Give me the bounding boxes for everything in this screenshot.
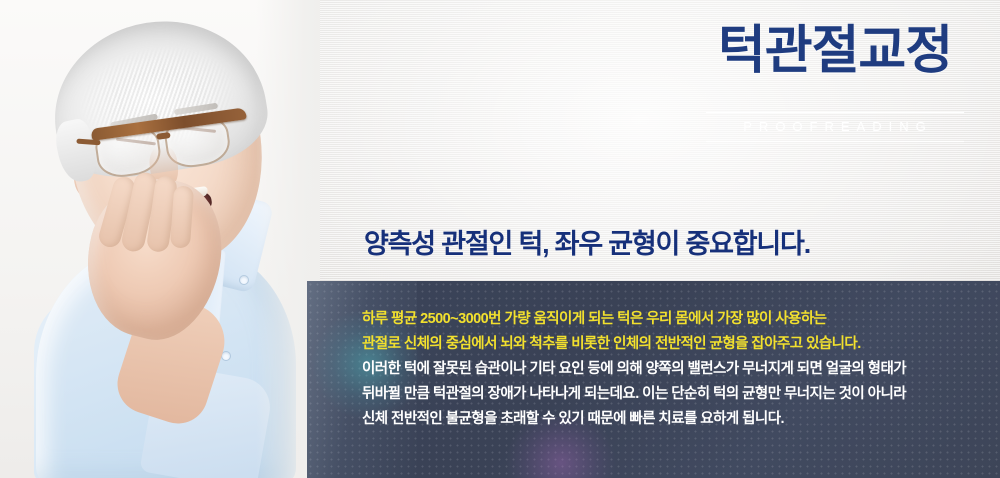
lead-statement: 양측성 관절인 턱, 좌우 균형이 중요합니다. xyxy=(364,222,810,261)
english-subtitle-group: PROOFREADING xyxy=(690,112,980,142)
promo-banner: 턱관절교정 PROOFREADING 양측성 관절인 턱, 좌우 균형이 중요합… xyxy=(0,0,1000,478)
page-title: 턱관절교정 xyxy=(690,24,980,79)
description-line: 뒤바뀔 만큼 턱관절의 장애가 나타나게 되는데요. 이는 단순히 턱의 균형만… xyxy=(362,382,992,407)
english-subtitle: PROOFREADING xyxy=(737,113,932,141)
description-panel: 하루 평균 2500~3000번 가량 움직이게 되는 턱은 우리 몸에서 가장… xyxy=(307,281,1000,478)
description-line: 하루 평균 2500~3000번 가량 움직이게 되는 턱은 우리 몸에서 가장… xyxy=(362,307,992,332)
description-line: 이러한 턱에 잘못된 습관이나 기타 요인 등에 의해 양쪽의 밸런스가 무너지… xyxy=(362,357,992,382)
description-text-block: 하루 평균 2500~3000번 가량 움직이게 되는 턱은 우리 몸에서 가장… xyxy=(362,307,992,432)
description-line: 신체 전반적인 불균형을 초래할 수 있기 때문에 빠른 치료를 요하게 됩니다… xyxy=(362,407,992,432)
patient-photo xyxy=(0,0,320,478)
shirt-button-top xyxy=(240,276,248,284)
rule-bottom xyxy=(706,141,964,142)
description-line: 관절로 신체의 중심에서 뇌와 척추를 비롯한 인체의 전반적인 균형을 잡아주… xyxy=(362,332,992,357)
shirt-button-bottom xyxy=(222,352,230,360)
